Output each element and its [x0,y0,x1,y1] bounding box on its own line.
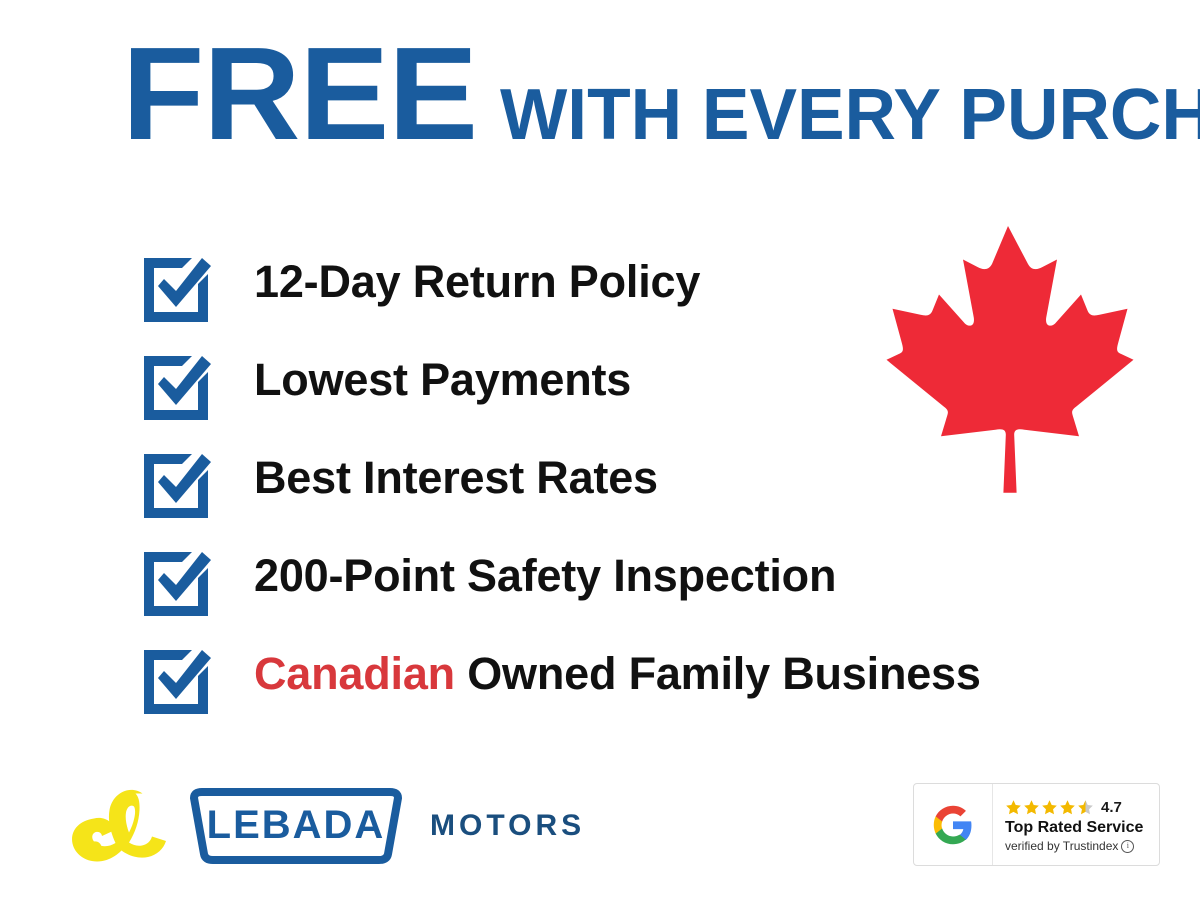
checkbox-checked-icon [138,250,216,322]
star-half-icon [1077,799,1094,816]
list-item-label: 12-Day Return Policy [254,258,700,305]
list-item-text: Owned Family Business [455,648,981,699]
checkbox-checked-icon [138,642,216,714]
brand-badge-label: LEBADA [180,788,412,864]
google-g-icon [914,784,993,865]
list-item-text: Lowest Payments [254,354,631,405]
star-full-icon [1059,799,1076,816]
headline-emphasis: FREE [122,28,477,160]
list-item-text: Best Interest Rates [254,452,658,503]
review-title: Top Rated Service [1005,818,1151,838]
google-review-badge[interactable]: 4.7 Top Rated Service verified by Trusti… [913,783,1160,866]
star-rating [1005,799,1094,816]
checkbox-checked-icon [138,544,216,616]
list-item-text: 200-Point Safety Inspection [254,550,836,601]
verified-row: verified by Trustindex i [1005,839,1151,853]
list-item-label: Best Interest Rates [254,454,658,501]
lebada-script-l-icon [68,786,174,866]
rating-row: 4.7 [1005,797,1151,817]
info-icon[interactable]: i [1121,840,1134,853]
checkbox-checked-icon [138,446,216,518]
list-item: Canadian Owned Family Business [138,640,998,738]
promo-poster: FREE WITH EVERY PURCHASE 12-Day Return P… [0,0,1200,900]
maple-leaf-icon [858,222,1158,540]
list-item-highlight: Canadian [254,648,455,699]
lebada-wordmark-badge: LEBADA [180,788,412,864]
brand-sub-label: MOTORS [430,809,585,843]
brand-logo: LEBADA MOTORS [68,783,585,869]
list-item: 200-Point Safety Inspection [138,542,998,640]
list-item-label: 200-Point Safety Inspection [254,552,836,599]
list-item-text: 12-Day Return Policy [254,256,700,307]
page-title: FREE WITH EVERY PURCHASE [122,28,1142,168]
google-review-body: 4.7 Top Rated Service verified by Trusti… [993,784,1159,865]
rating-value: 4.7 [1101,799,1122,816]
list-item-label: Lowest Payments [254,356,631,403]
star-full-icon [1005,799,1022,816]
star-full-icon [1041,799,1058,816]
verified-label: verified by Trustindex [1005,839,1118,853]
checkbox-checked-icon [138,348,216,420]
list-item-label: Canadian Owned Family Business [254,650,981,697]
star-full-icon [1023,799,1040,816]
headline-rest: WITH EVERY PURCHASE [500,79,1200,151]
